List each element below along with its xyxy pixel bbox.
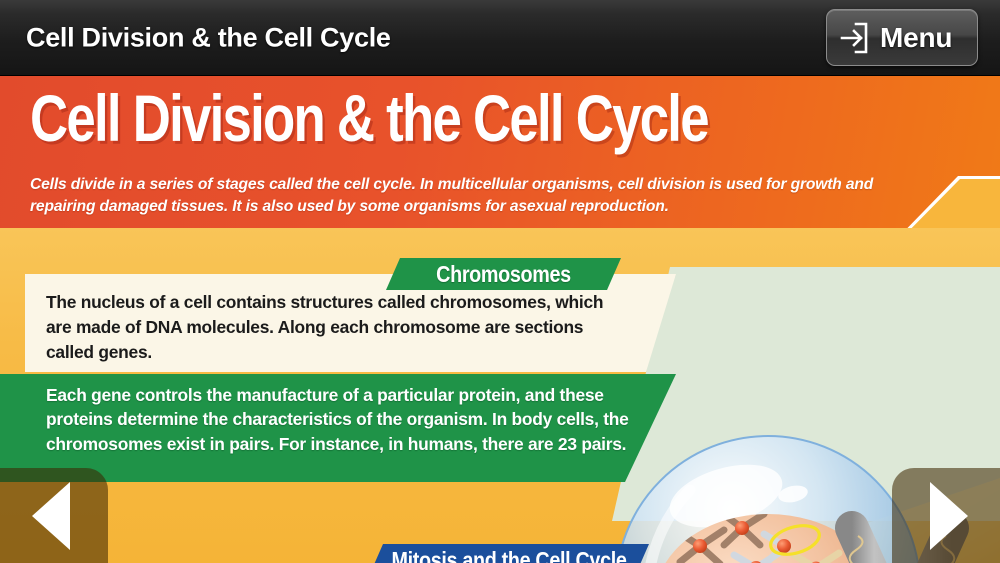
top-bar: Cell Division & the Cell Cycle Menu [0,0,1000,76]
chevron-left-icon [32,482,70,550]
previous-slide-button[interactable] [0,468,108,563]
chevron-right-icon [930,482,968,550]
hero-banner: Cell Division & the Cell Cycle Cells div… [0,76,1000,228]
section-tab-mitosis-label: Mitosis and the Cell Cycle [389,544,630,563]
page-title: Cell Division & the Cell Cycle [26,22,391,53]
arrow-into-box-icon [839,21,869,55]
hero-corner-notch [860,156,1000,228]
chromosomes-detail-text: Each gene controls the manufacture of a … [46,383,646,456]
chromosomes-detail-panel: Each gene controls the manufacture of a … [0,374,676,482]
section-tab-chromosomes[interactable]: Chromosomes [386,258,621,290]
section-tab-chromosomes-label: Chromosomes [402,258,604,290]
section-tab-mitosis[interactable]: Mitosis and the Cell Cycle [369,544,649,563]
menu-button-label: Menu [880,22,952,54]
chromosomes-intro-text: The nucleus of a cell contains structure… [46,290,626,365]
slide-viewer: Cell Division & the Cell Cycle Menu Cell… [0,0,1000,563]
next-slide-button[interactable] [892,468,1000,563]
hero-title: Cell Division & the Cell Cycle [30,78,708,159]
content-stage: The nucleus of a cell contains structure… [0,228,1000,563]
hero-subtitle: Cells divide in a series of stages calle… [30,174,910,217]
menu-button[interactable]: Menu [826,9,978,66]
